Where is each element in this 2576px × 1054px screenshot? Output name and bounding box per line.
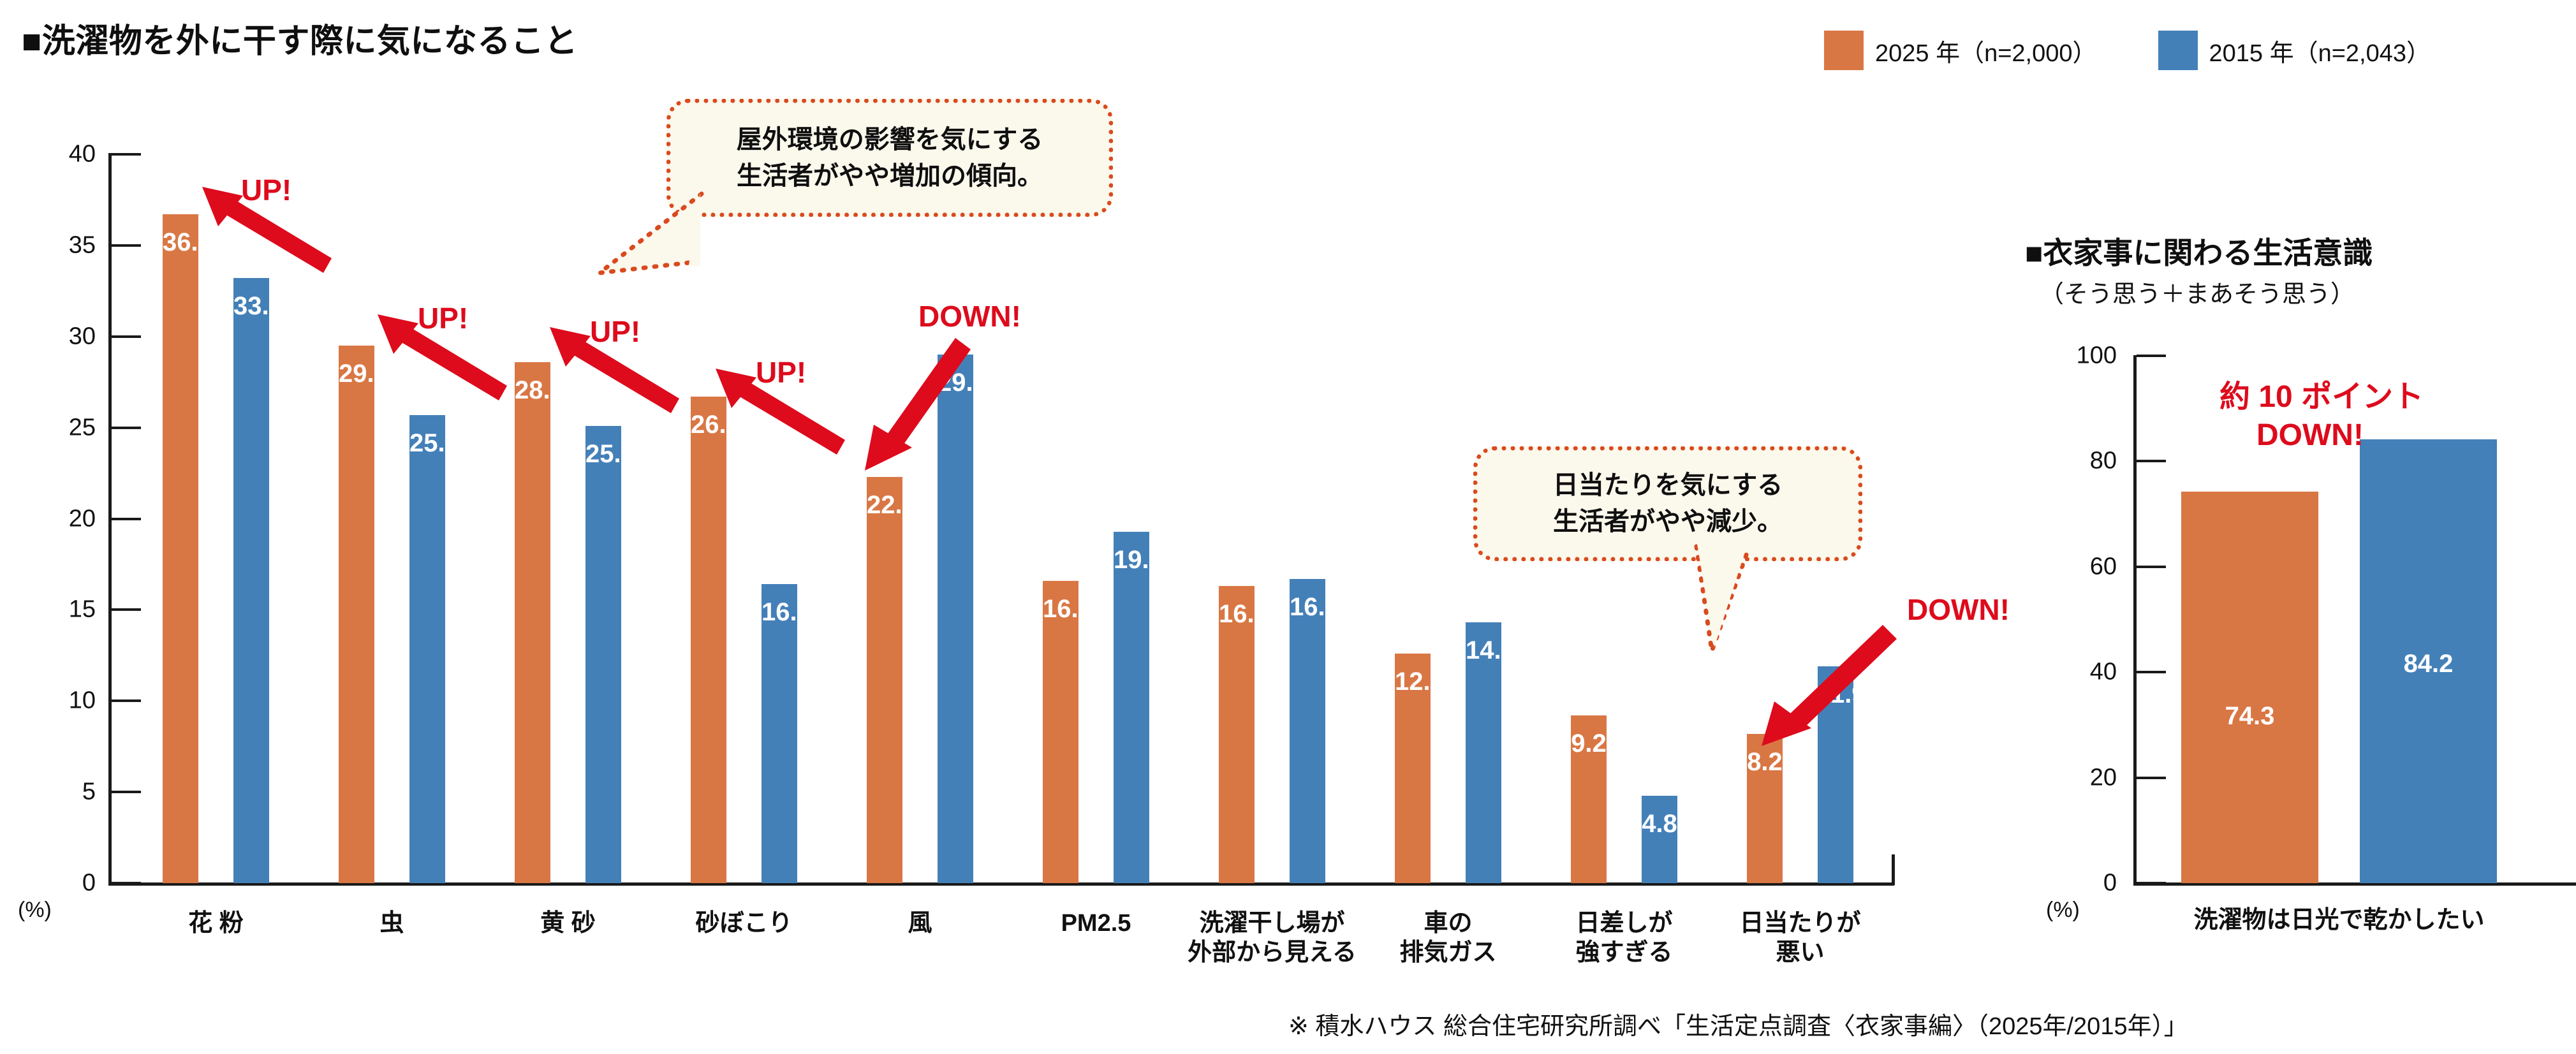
y-axis-tick <box>112 518 141 520</box>
y-axis-tick-label: 35 <box>6 231 96 259</box>
right-y-axis-line <box>2133 355 2137 886</box>
y-axis-tick-label: 40 <box>2028 659 2117 686</box>
y-axis-tick-label: 0 <box>6 870 96 897</box>
y-axis-tick-label: 40 <box>6 141 96 168</box>
bar-2025: 74.3 <box>2181 492 2318 883</box>
y-axis-tick-label: 80 <box>2028 448 2117 475</box>
secondary-bar-chart: ■衣家事に関わる生活意識 （そう思う＋まあそう思う） 020406080100 … <box>2009 0 2576 976</box>
x-axis-line <box>108 882 1894 886</box>
bar-2025: 36.7 <box>163 214 198 883</box>
bar-value-label: 26.7 <box>691 411 726 439</box>
right-annotation-line-2: DOWN! <box>2256 418 2364 453</box>
bar-value-label: 12.6 <box>1395 668 1431 696</box>
y-axis-tick-label: 100 <box>2028 342 2117 370</box>
y-axis-tick-label: 20 <box>2028 764 2117 791</box>
x-axis-category-label: PM2.5 <box>1001 909 1192 938</box>
bar-value-label: 19.3 <box>1114 546 1149 575</box>
y-axis-tick-label: 60 <box>2028 553 2117 580</box>
y-axis-tick <box>112 699 141 702</box>
bar-2025: 26.7 <box>691 397 726 883</box>
bar-value-label: 74.3 <box>2181 702 2318 731</box>
callout-2-line-2: 生活者がやや減少。 <box>1553 504 1783 540</box>
annotation-up-3: UP! <box>590 315 640 349</box>
annotation-down-2: DOWN! <box>1907 593 2010 627</box>
bar-2015: 4.8 <box>1642 796 1677 883</box>
right-chart-title: ■衣家事に関わる生活意識 <box>2025 228 2373 272</box>
bar-value-label: 22.3 <box>867 491 902 520</box>
callout-2-tail <box>1677 539 1818 660</box>
bar-2025: 8.2 <box>1747 734 1783 883</box>
bar-2025: 12.6 <box>1395 654 1431 883</box>
y-axis-tick <box>2137 777 2166 779</box>
bar-2015: 84.2 <box>2360 439 2497 883</box>
bar-2015: 29.0 <box>938 355 973 883</box>
y-axis-tick <box>2137 882 2166 884</box>
callout-2-line-1: 日当たりを気にする <box>1553 467 1783 504</box>
y-axis-tick <box>112 427 141 429</box>
source-note: ※ 積水ハウス 総合住宅研究所調べ「生活定点調査〈衣家事編〉（2025年/201… <box>1288 1006 2188 1041</box>
bar-2015: 25.1 <box>585 426 621 883</box>
bar-value-label: 36.7 <box>163 228 198 257</box>
bar-2015: 19.3 <box>1114 532 1149 883</box>
bar-value-label: 9.2 <box>1571 729 1607 758</box>
bar-value-label: 11.9 <box>1818 680 1853 709</box>
bar-value-label: 16.6 <box>1043 595 1078 624</box>
y-axis-tick <box>2137 355 2166 357</box>
bar-value-label: 29.5 <box>339 360 374 388</box>
callout-1-line-1: 屋外環境の影響を気にする <box>737 122 1043 158</box>
annotation-up-1: UP! <box>241 173 291 207</box>
bar-2025: 29.5 <box>339 346 374 883</box>
bar-2025: 28.6 <box>515 362 550 883</box>
bar-value-label: 16.4 <box>762 598 797 627</box>
y-axis-tick-label: 30 <box>6 323 96 350</box>
y-axis-tick-label: 15 <box>6 596 96 624</box>
x-axis-category-label: 洗濯干し場が外部から見える <box>1177 909 1368 968</box>
y-axis-tick-label: 0 <box>2028 870 2117 897</box>
x-axis-category-label: 日当たりが悪い <box>1705 909 1896 968</box>
y-axis-tick-label: 5 <box>6 779 96 806</box>
bar-value-label: 16.3 <box>1219 600 1255 629</box>
bar-2015: 33.2 <box>233 278 269 883</box>
y-axis-tick-label: 25 <box>6 414 96 441</box>
right-annotation-line-1: 約 10 ポイント <box>2219 379 2424 414</box>
callout-outdoor-environment: 屋外環境の影響を気にする 生活者がやや増加の傾向。 <box>666 99 1113 217</box>
callout-1-line-2: 生活者がやや増加の傾向。 <box>737 158 1043 194</box>
bar-2015: 14.3 <box>1466 622 1501 883</box>
y-axis-unit-label: (%) <box>18 898 52 923</box>
bar-value-label: 84.2 <box>2360 650 2497 678</box>
bar-2015: 11.9 <box>1818 666 1853 883</box>
x-axis-category-label: 黄 砂 <box>473 909 664 938</box>
y-axis-tick <box>2137 566 2166 568</box>
bar-2015: 16.4 <box>762 584 797 883</box>
right-chart-subtitle: （そう思う＋まあそう思う） <box>2040 274 2355 309</box>
right-y-axis-unit-label: (%) <box>2046 898 2080 923</box>
bar-2025: 16.3 <box>1219 586 1255 883</box>
bar-2025: 9.2 <box>1571 715 1607 883</box>
x-axis-category-label: 日差しが強すぎる <box>1529 909 1720 968</box>
annotation-up-2: UP! <box>418 302 468 335</box>
callout-1-tail <box>593 191 733 281</box>
bar-value-label: 4.8 <box>1642 810 1677 838</box>
y-axis-tick <box>112 153 141 156</box>
bar-value-label: 29.0 <box>938 369 973 397</box>
y-axis-tick <box>112 244 141 247</box>
y-axis-tick-label: 10 <box>6 687 96 715</box>
x-axis-category-label: 砂ぼこり <box>649 909 840 938</box>
infographic-root: ■洗濯物を外に干す際に気になること 2025 年（n=2,000） 2015 年… <box>0 0 2576 1054</box>
bar-value-label: 25.1 <box>585 440 621 469</box>
annotation-up-4: UP! <box>756 356 806 390</box>
bar-2025: 22.3 <box>867 477 902 883</box>
bar-2025: 16.6 <box>1043 581 1078 883</box>
x-axis-category-label: 洗濯物は日光で乾かしたい <box>2142 905 2537 935</box>
bar-value-label: 33.2 <box>233 292 269 321</box>
bar-2015: 25.7 <box>409 415 445 883</box>
x-axis-category-label: 花 粉 <box>121 909 312 938</box>
y-axis-tick <box>112 791 141 793</box>
y-axis-tick <box>112 608 141 611</box>
x-axis-category-label: 虫 <box>297 909 488 938</box>
y-axis-tick <box>2137 460 2166 462</box>
y-axis-tick-label: 20 <box>6 505 96 532</box>
bar-value-label: 14.3 <box>1466 636 1501 665</box>
bar-value-label: 16.7 <box>1290 593 1325 622</box>
y-axis-tick <box>112 882 141 884</box>
bar-value-label: 28.6 <box>515 376 550 405</box>
bar-2015: 16.7 <box>1290 579 1325 883</box>
bar-value-label: 8.2 <box>1747 748 1783 777</box>
x-axis-category-label: 風 <box>825 909 1016 938</box>
x-axis-category-label: 車の排気ガス <box>1353 909 1544 968</box>
x-axis-right-cap <box>1892 854 1895 885</box>
annotation-down-1: DOWN! <box>918 300 1021 333</box>
y-axis-tick <box>2137 671 2166 673</box>
y-axis-tick <box>112 335 141 338</box>
bar-value-label: 25.7 <box>409 429 445 458</box>
